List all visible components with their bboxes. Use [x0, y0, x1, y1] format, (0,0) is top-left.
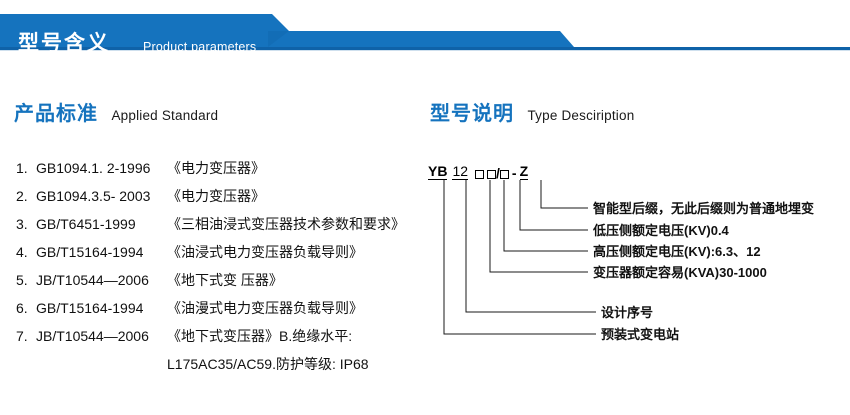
standards-item-number: 4. — [16, 244, 36, 260]
page-header-banner: 型号含义 Product parameters — [0, 14, 850, 52]
standards-item-number: 2. — [16, 188, 36, 204]
standards-item-code: GB/T6451-1999 — [36, 216, 167, 232]
banner-title-en: Product parameters — [143, 41, 256, 54]
code-label-design-serial: 设计序号 — [601, 306, 653, 319]
standards-item-number: 5. — [16, 272, 36, 288]
standards-item-continuation: L175AC35/AC59.防护等级: IP68 — [16, 354, 426, 384]
standards-item-code: JB/T10544—2006 — [36, 328, 167, 344]
code-label-hv-voltage: 高压侧额定电压(KV):6.3、12 — [593, 245, 761, 258]
type-heading-en: Type Desciription — [527, 108, 634, 123]
standards-item-name: 《地下式变 压器》 — [167, 270, 283, 290]
standards-item: 7. JB/T10544—2006 《地下式变压器》B.绝缘水平: — [16, 326, 426, 354]
code-label-rated-capacity: 变压器额定容易(KVA)30-1000 — [593, 266, 767, 279]
standards-item-number: 7. — [16, 328, 36, 344]
standards-heading-en: Applied Standard — [111, 108, 218, 123]
standards-item-name: 《三相油浸式变压器技术参数和要求》 — [167, 214, 405, 234]
standards-item-name: 《地下式变压器》B.绝缘水平: — [167, 326, 352, 346]
type-heading-cn: 型号说明 — [430, 103, 514, 125]
code-label-smart-suffix: 智能型后缀，无此后缀则为普通地埋变 — [593, 202, 814, 215]
standards-item-code: GB/T15164-1994 — [36, 244, 167, 260]
model-code-diagram: YB 12 / - Z 智能型后缀，无此后缀则为普通地埋变 — [428, 160, 838, 360]
standards-item-name: 《电力变压器》 — [167, 186, 265, 206]
standards-item-number: 6. — [16, 300, 36, 316]
standards-item: 1. GB1094.1. 2-1996 《电力变压器》 — [16, 158, 426, 186]
code-label-lv-voltage: 低压侧额定电压(KV)0.4 — [593, 224, 729, 237]
standards-heading-cn: 产品标准 — [14, 103, 98, 125]
standards-item-name: 《油浸式电力变压器负载导则》 — [167, 242, 363, 262]
standards-item-name: 《电力变压器》 — [167, 158, 265, 178]
standards-item-number: 3. — [16, 216, 36, 232]
standards-item-code: GB1094.3.5- 2003 — [36, 188, 167, 204]
banner-title-cn: 型号含义 — [18, 33, 110, 54]
standards-list: 1. GB1094.1. 2-1996 《电力变压器》 2. GB1094.3.… — [16, 158, 426, 384]
standards-item: 6. GB/T15164-1994 《油漫式电力变压器负载导则》 — [16, 298, 426, 326]
standards-item-number: 1. — [16, 160, 36, 176]
standards-item-name: 《油漫式电力变压器负载导则》 — [167, 298, 363, 318]
standards-item: 2. GB1094.3.5- 2003 《电力变压器》 — [16, 186, 426, 214]
standards-heading: 产品标准 Applied Standard — [14, 104, 218, 124]
standards-item-code: GB1094.1. 2-1996 — [36, 160, 167, 176]
standards-item-code: GB/T15164-1994 — [36, 300, 167, 316]
standards-item: 4. GB/T15164-1994 《油浸式电力变压器负载导则》 — [16, 242, 426, 270]
standards-item-code: JB/T10544—2006 — [36, 272, 167, 288]
type-heading: 型号说明 Type Desciription — [430, 104, 634, 124]
standards-item: 3. GB/T6451-1999 《三相油浸式变压器技术参数和要求》 — [16, 214, 426, 242]
banner-shape — [0, 14, 850, 52]
code-label-substation-type: 预装式变电站 — [601, 328, 679, 341]
standards-item: 5. JB/T10544—2006 《地下式变 压器》 — [16, 270, 426, 298]
